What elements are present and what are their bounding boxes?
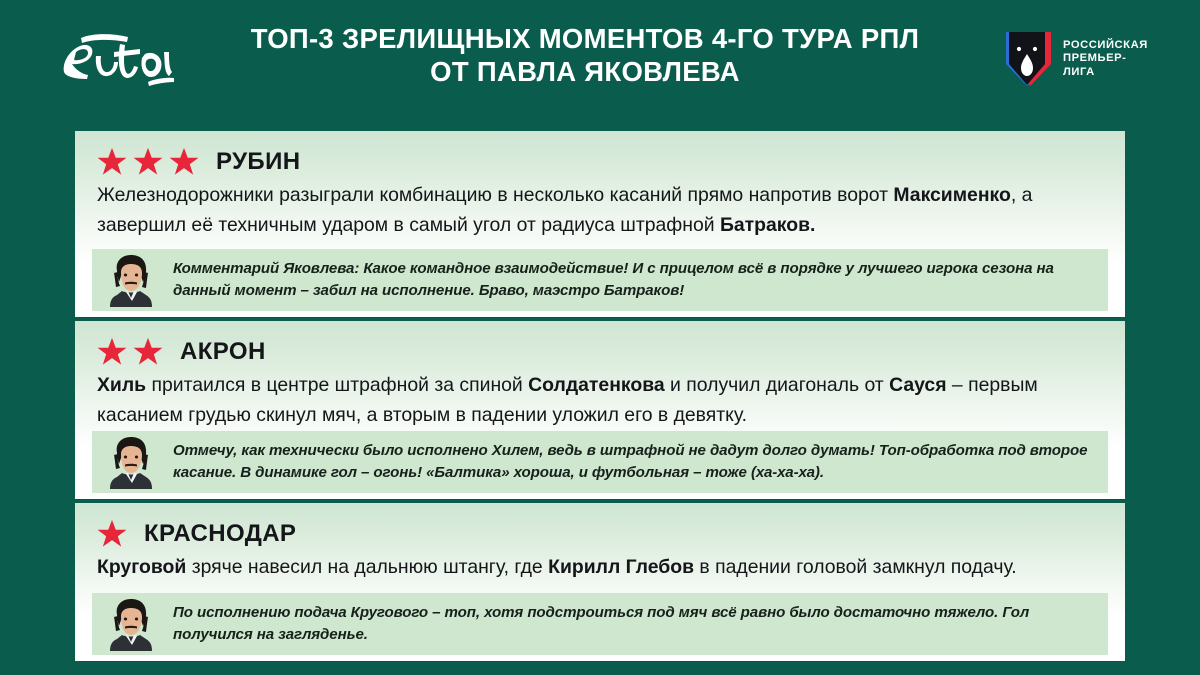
moment-card: АКРОН Хиль притаился в центре штрафной з… (75, 321, 1125, 499)
body-text-run: в падении головой замкнул подачу. (694, 556, 1017, 578)
body-text-run: притаился в центре штрафной за спиной (146, 374, 528, 396)
avatar (102, 253, 160, 307)
rpl-league-logo: РОССИЙСКАЯ ПРЕМЬЕР- ЛИГА (1000, 20, 1175, 98)
card-header: АКРОН (75, 321, 1125, 369)
body-text-run: зряче навесил на дальнюю штангу, где (186, 556, 548, 578)
moment-description: Хиль притаился в центре штрафной за спин… (75, 369, 1125, 430)
comment-text: Комментарий Яковлева: Какое командное вз… (173, 258, 1094, 303)
highlighted-name: Солдатенкова (528, 374, 665, 396)
star-icon (133, 337, 163, 366)
avatar (102, 597, 160, 651)
star-icon (169, 147, 199, 176)
rpl-logo-text: РОССИЙСКАЯ ПРЕМЬЕР- ЛИГА (1063, 39, 1148, 80)
star-icon (97, 519, 127, 548)
star-icon (97, 147, 127, 176)
highlighted-name: Сауся (889, 374, 946, 396)
page-title: ТОП-3 ЗРЕЛИЩНЫХ МОМЕНТОВ 4-ГО ТУРА РПЛ О… (190, 22, 980, 88)
highlighted-name: Максименко (893, 184, 1010, 206)
expert-comment: По исполнению подача Кругового – топ, хо… (92, 593, 1108, 655)
rpl-bear-shield-icon (1000, 28, 1054, 90)
header: ТОП-3 ЗРЕЛИЩНЫХ МОМЕНТОВ 4-ГО ТУРА РПЛ О… (0, 0, 1200, 118)
page-title-line2: ОТ ПАВЛА ЯКОВЛЕВА (190, 55, 980, 88)
page-title-line1: ТОП-3 ЗРЕЛИЩНЫХ МОМЕНТОВ 4-ГО ТУРА РПЛ (251, 23, 919, 54)
expert-comment: Отмечу, как технически было исполнено Хи… (92, 431, 1108, 493)
highlighted-name: Круговой (97, 556, 186, 578)
highlighted-name: Батраков. (720, 214, 815, 236)
futbol-brand-logo (48, 22, 183, 94)
star-icon (97, 337, 127, 366)
highlighted-name: Хиль (97, 374, 146, 396)
highlighted-name: Кирилл Глебов (548, 556, 694, 578)
card-header: КРАСНОДАР (75, 503, 1125, 551)
team-name: КРАСНОДАР (144, 520, 296, 548)
comment-text: По исполнению подача Кругового – топ, хо… (173, 602, 1094, 647)
team-name: АКРОН (180, 338, 266, 366)
body-text-run: Железнодорожники разыграли комбинацию в … (97, 184, 893, 206)
expert-comment: Комментарий Яковлева: Какое командное вз… (92, 249, 1108, 311)
star-rating (97, 147, 199, 176)
infographic-root: ТОП-3 ЗРЕЛИЩНЫХ МОМЕНТОВ 4-ГО ТУРА РПЛ О… (0, 0, 1200, 675)
star-rating (97, 337, 163, 366)
card-header: РУБИН (75, 131, 1125, 179)
moments-list: РУБИН Железнодорожники разыграли комбина… (0, 118, 1200, 675)
moment-card: РУБИН Железнодорожники разыграли комбина… (75, 131, 1125, 317)
star-rating (97, 519, 127, 548)
moment-description: Круговой зряче навесил на дальнюю штангу… (75, 551, 1125, 583)
comment-text: Отмечу, как технически было исполнено Хи… (173, 440, 1094, 485)
avatar (102, 435, 160, 489)
star-icon (133, 147, 163, 176)
moment-card: КРАСНОДАР Круговой зряче навесил на даль… (75, 503, 1125, 661)
moment-description: Железнодорожники разыграли комбинацию в … (75, 179, 1125, 240)
team-name: РУБИН (216, 148, 300, 176)
body-text-run: и получил диагональ от (665, 374, 889, 396)
